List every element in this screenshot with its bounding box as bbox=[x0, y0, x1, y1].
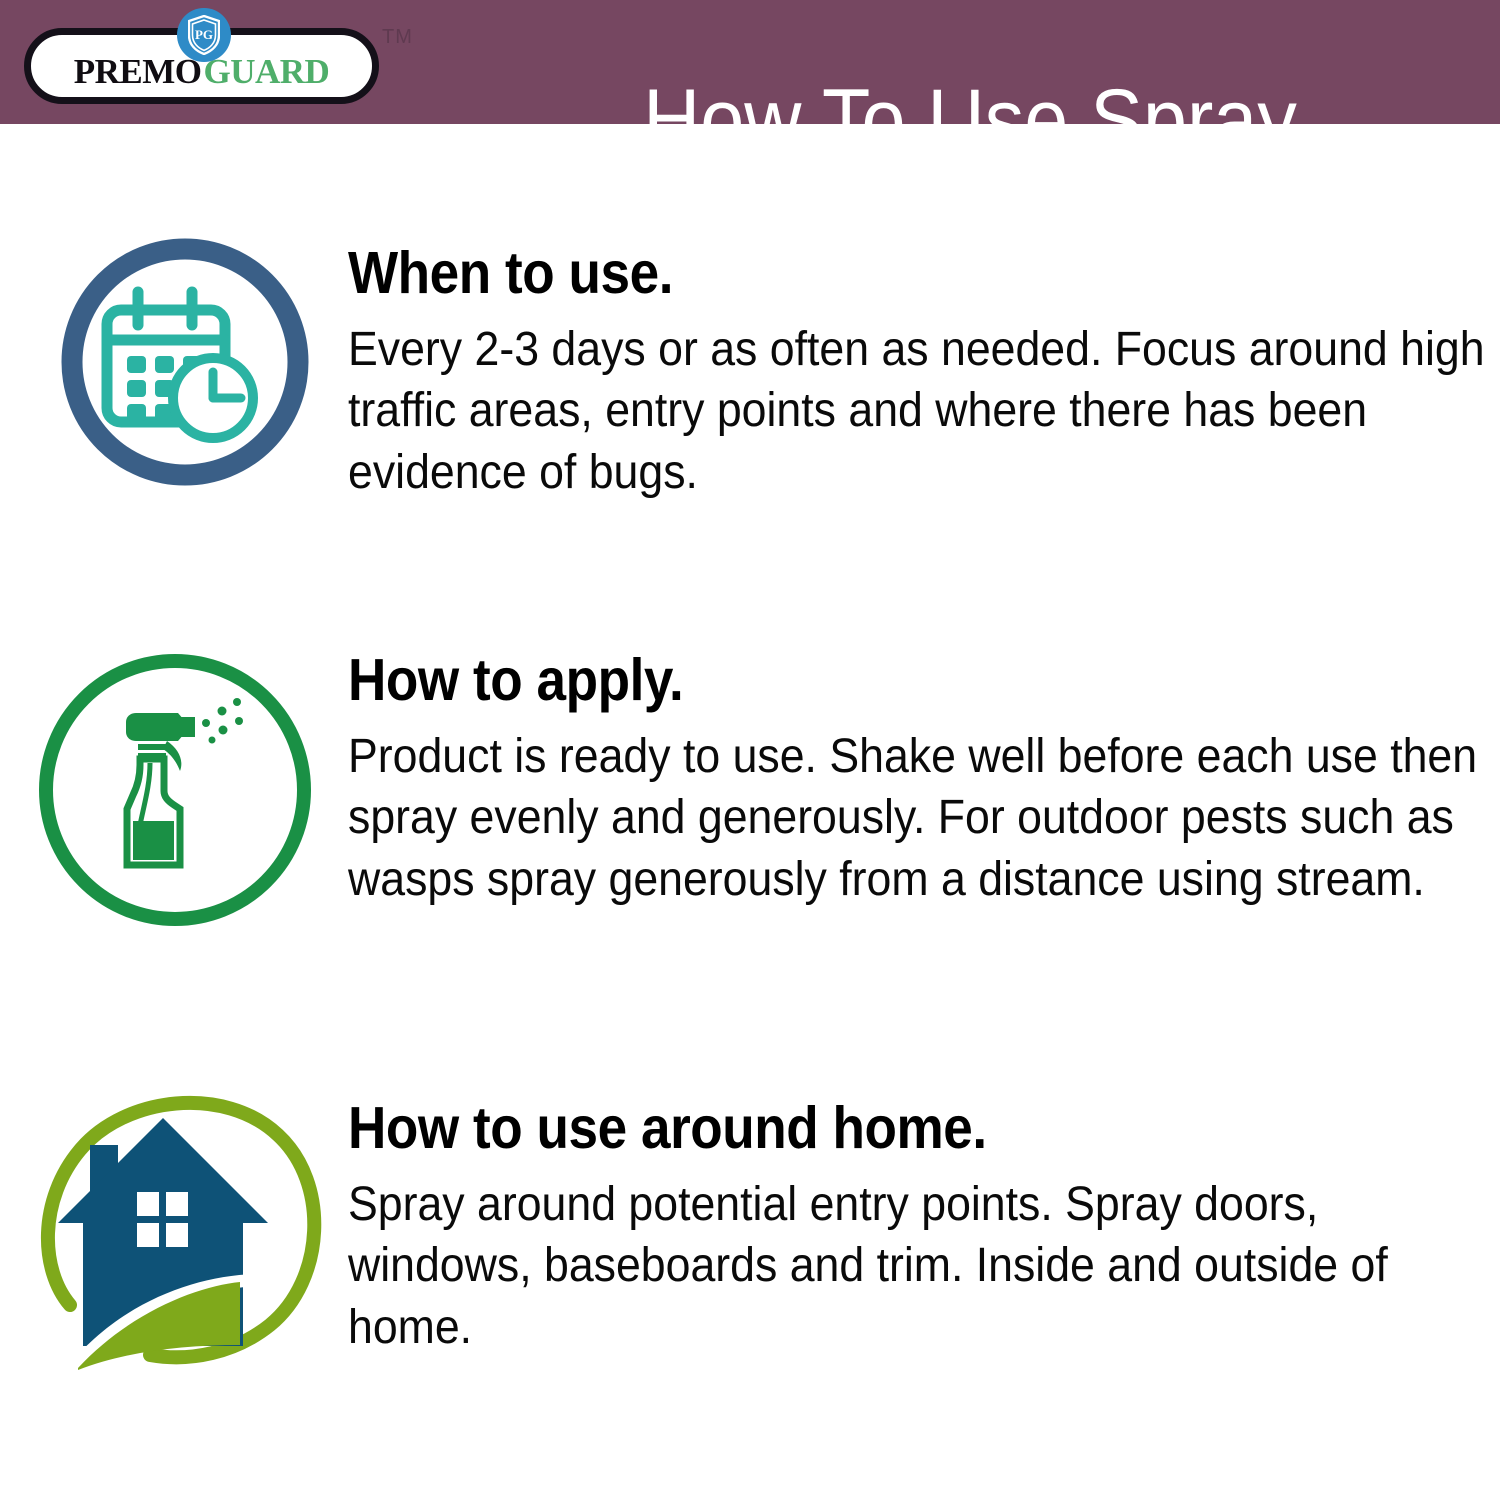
svg-text:PG: PG bbox=[195, 27, 213, 42]
spray-bottle-glyph bbox=[30, 645, 320, 935]
house-leaf-icon bbox=[30, 1080, 330, 1380]
section-heading: How to apply. bbox=[348, 650, 1455, 712]
page-header: PremoGuard PG TM How To Use Spray bbox=[0, 0, 1500, 124]
section-text: Product is ready to use. Shake well befo… bbox=[348, 726, 1492, 910]
brand-logo: PremoGuard PG TM bbox=[14, 6, 414, 118]
shield-glyph-icon: PG bbox=[188, 15, 220, 55]
section-text: Every 2-3 days or as often as needed. Fo… bbox=[348, 319, 1492, 503]
pg-shield-badge-icon: PG bbox=[177, 8, 231, 62]
section-when-to-use: When to use. Every 2-3 days or as often … bbox=[348, 243, 1500, 503]
trademark-symbol: TM bbox=[382, 26, 413, 49]
calendar-clock-glyph bbox=[55, 232, 315, 492]
page-title: How To Use Spray bbox=[482, 58, 1457, 182]
section-heading: When to use. bbox=[348, 243, 1455, 305]
calendar-clock-icon bbox=[55, 232, 315, 492]
section-how-to-apply: How to apply. Product is ready to use. S… bbox=[348, 650, 1500, 910]
section-heading: How to use around home. bbox=[348, 1098, 1455, 1160]
section-text: Spray around potential entry points. Spr… bbox=[348, 1174, 1492, 1358]
section-how-to-use-around-home: How to use around home. Spray around pot… bbox=[348, 1098, 1500, 1358]
house-leaf-glyph bbox=[30, 1080, 330, 1380]
spray-bottle-icon bbox=[30, 645, 320, 935]
